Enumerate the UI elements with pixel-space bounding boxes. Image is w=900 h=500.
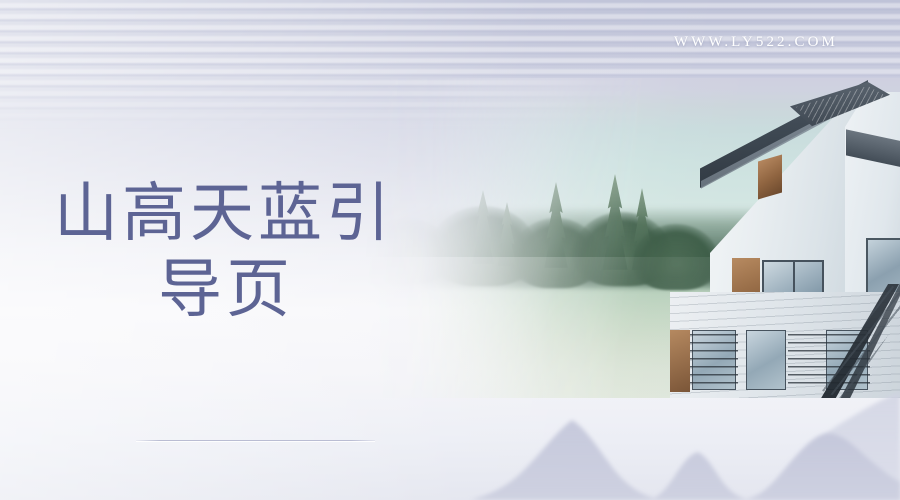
banner-canvas: WWW.LY522.COM 山高天蓝引 导页 — [0, 0, 900, 500]
hero-title-line-1: 山高天蓝引 — [50, 176, 442, 252]
hero-title-line-2: 导页 — [50, 252, 442, 328]
title-divider — [136, 440, 375, 441]
hero-title: 山高天蓝引 导页 — [50, 176, 442, 328]
site-url-text: WWW.LY522.COM — [674, 34, 838, 51]
